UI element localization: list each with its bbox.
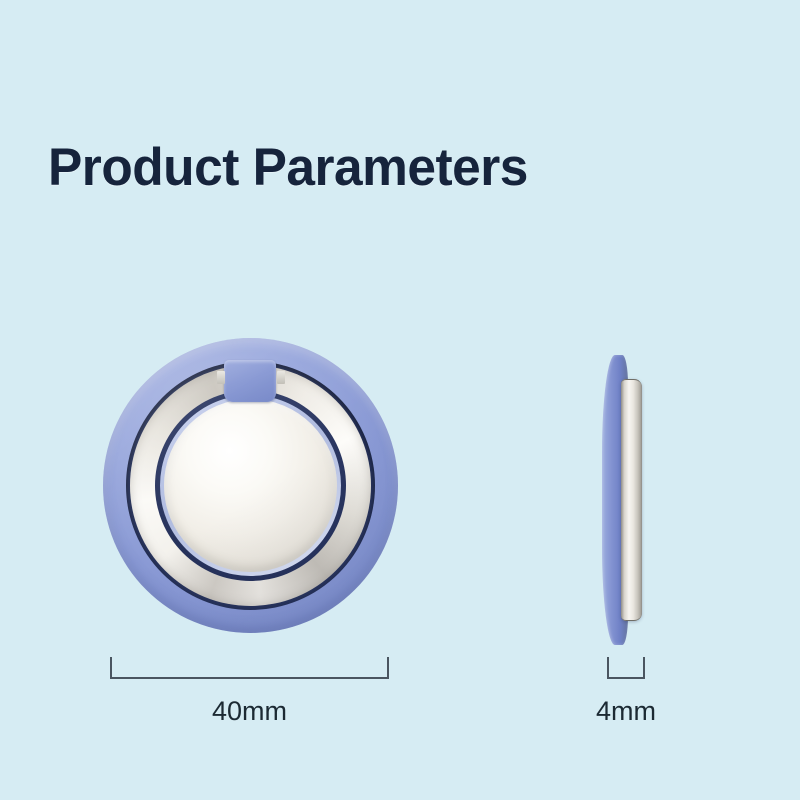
dimension-label-thickness: 4mm	[566, 696, 686, 727]
hinge-tab	[224, 360, 276, 402]
side-metal-band	[621, 379, 642, 621]
hinge-notch-left	[217, 371, 225, 384]
dimension-bracket-diameter	[110, 657, 389, 679]
page-title: Product Parameters	[48, 137, 528, 198]
dimension-label-diameter: 40mm	[110, 696, 389, 727]
dimension-bracket-thickness	[607, 657, 645, 679]
product-side-view	[602, 355, 650, 645]
hinge-notch-right	[277, 371, 285, 384]
center-metal-plate	[164, 399, 337, 572]
product-parameters-page: Product Parameters 40mm 4mm	[0, 0, 800, 800]
product-front-view	[103, 338, 398, 633]
